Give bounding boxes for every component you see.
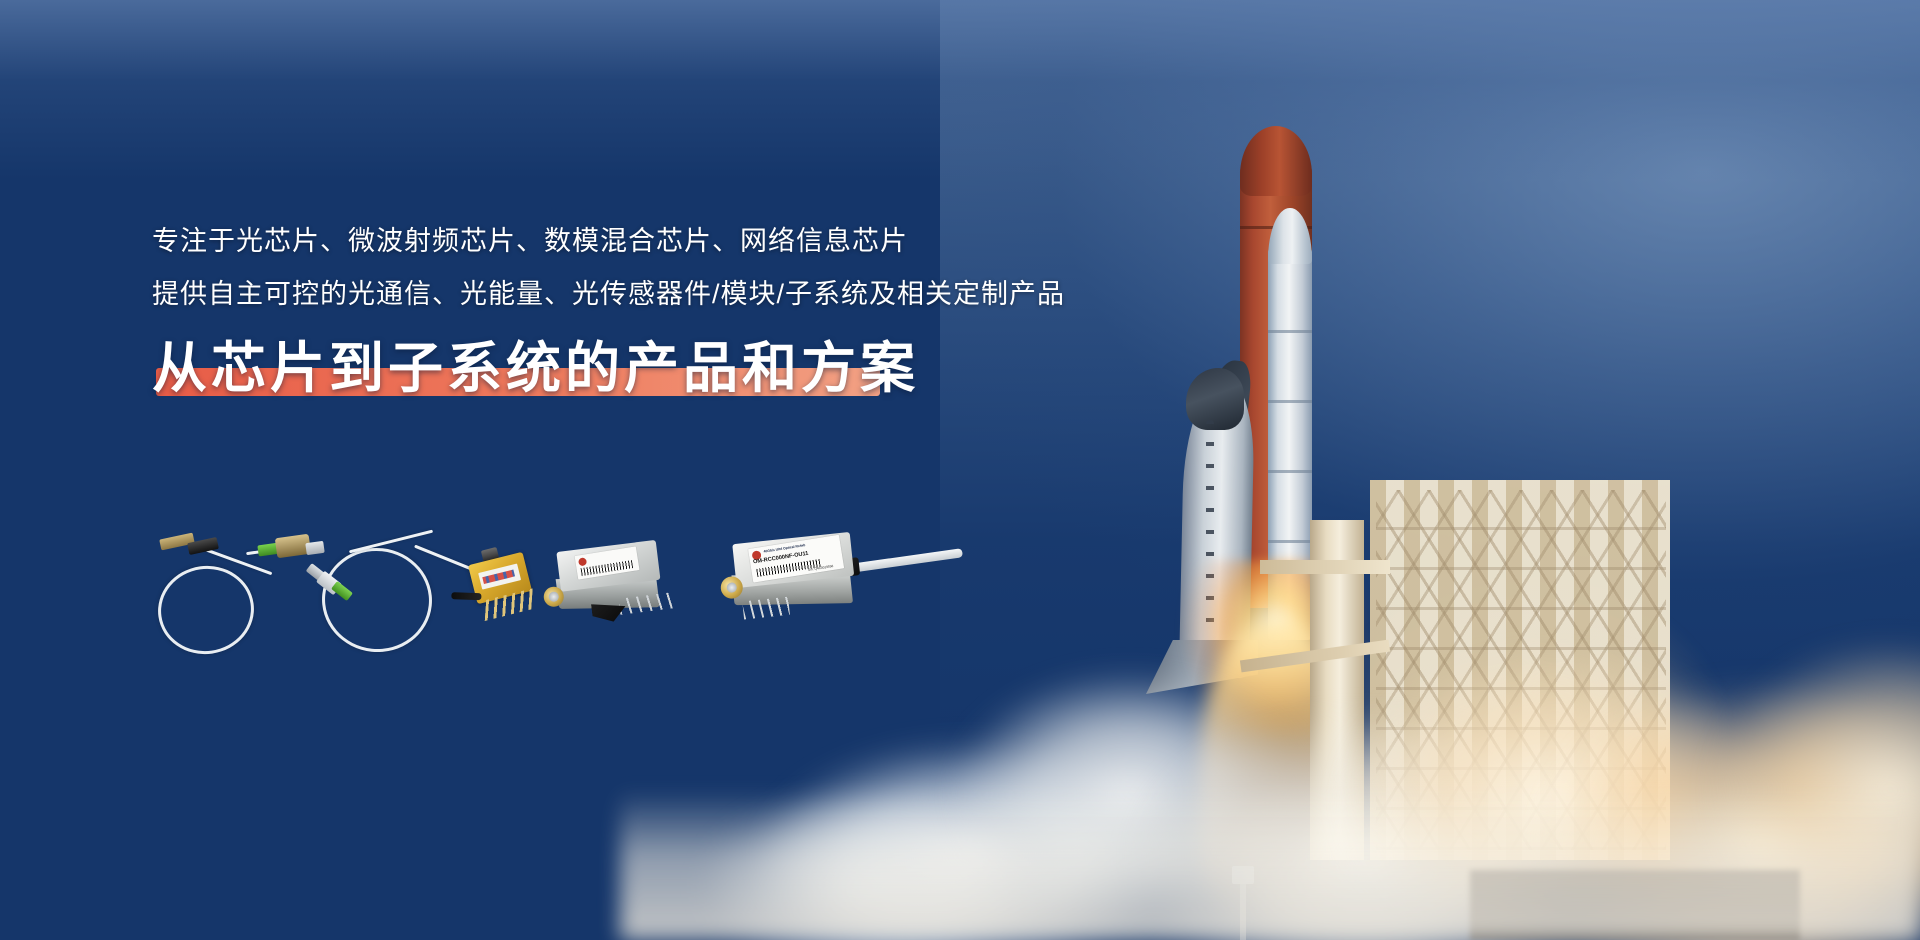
fiber-coil [152,560,259,661]
booster-band [1268,470,1312,473]
module-pin-array [742,597,790,620]
product-image-row: 40Gb/s Ultd Optical Rx/wb OM-RCC000NF-OU… [150,520,910,660]
banner-subline-1: 专注于光芯片、微波射频芯片、数模混合芯片、网络信息芯片 [152,228,1152,255]
laser-fiber-boot [451,592,481,600]
orbiter-nose-cone [1186,368,1244,430]
sky-top-haze [0,0,1920,180]
banner-copy: 专注于光芯片、微波射频芯片、数模混合芯片、网络信息芯片 提供自主可控的光通信、光… [152,228,1152,406]
banner-headline: 从芯片到子系统的产品和方案 [152,340,919,398]
booster-band [1268,400,1312,403]
booster-band [1268,330,1312,333]
banner-subline-2: 提供自主可控的光通信、光能量、光传感器件/模块/子系统及相关定制产品 [152,281,1152,308]
optical-receiver-module: 40Gb/s Ultd Optical Rx/wb OM-RCC000NF-OU… [724,531,863,622]
tower-service-arm [1260,560,1390,574]
rf-metal-module [552,540,663,618]
banner-headline-wrap: 从芯片到子系统的产品和方案 [152,340,919,406]
butterfly-laser-diode [468,552,532,604]
fiber-connector-tip [305,541,324,555]
smoke-ground-layer [620,790,1920,940]
external-fuel-tank-nose [1240,126,1312,196]
fiber-coil [317,543,437,658]
hero-banner: 专注于光芯片、微波射频芯片、数模混合芯片、网络信息芯片 提供自主可控的光通信、光… [0,0,1920,940]
